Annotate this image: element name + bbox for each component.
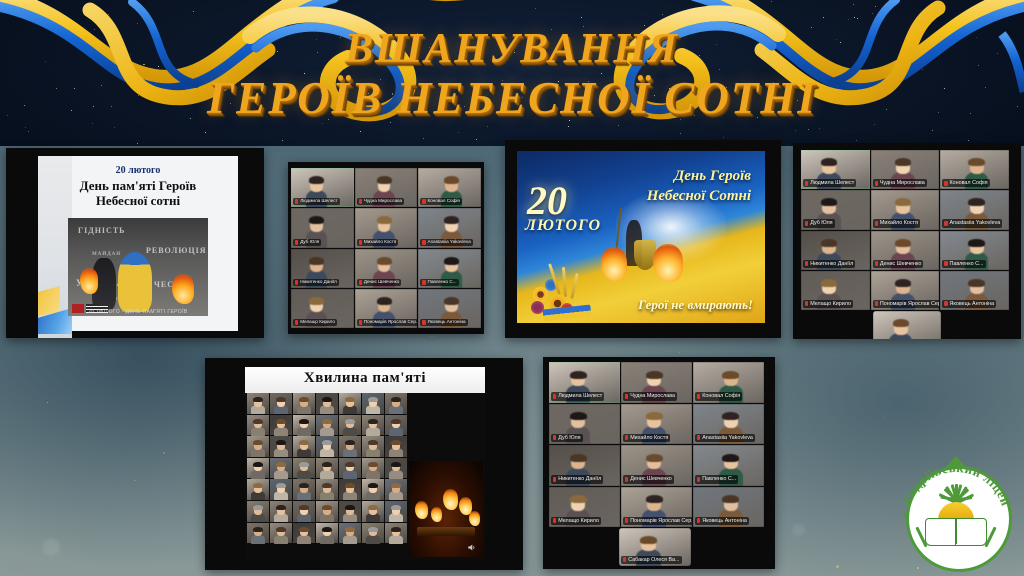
participant-name: Мелащо Кирило xyxy=(558,517,599,525)
participant-name: Людмила Шелест xyxy=(810,179,854,187)
memorial-portrait xyxy=(293,458,315,479)
wheat-stalk-2 xyxy=(562,267,567,297)
slide-3-month: ЛЮТОГО xyxy=(525,217,601,235)
participant-hair xyxy=(895,158,911,166)
portrait-body xyxy=(297,470,312,479)
participant-name-label: Коновал Софія xyxy=(942,179,989,187)
candle-flame-2 xyxy=(431,507,442,522)
participant-name: Пономарів Ярослав Сер... xyxy=(880,300,939,308)
participant-name-label: Михайло Костя xyxy=(873,219,920,227)
video-participant-cell[interactable]: Никитенко Даніїл xyxy=(549,445,620,486)
portrait-hair xyxy=(299,419,309,424)
portrait-hair xyxy=(299,505,309,510)
candle-tray xyxy=(417,527,475,536)
memorial-portrait xyxy=(339,393,361,414)
participant-name: Денис Шевченко xyxy=(880,260,922,268)
portrait-hair xyxy=(368,462,378,467)
photo-word-revolution: РЕВОЛЮЦІЯ xyxy=(146,246,206,255)
video-participant-cell[interactable]: Людмила Шелест xyxy=(549,362,620,403)
memorial-portrait xyxy=(270,458,292,479)
participant-name-label: Денис Шевченко xyxy=(357,279,402,286)
participant-name-label: Михайло Костя xyxy=(357,239,399,246)
microphone-muted-icon xyxy=(625,477,628,482)
participant-name: Пономарів Ярослав Сер... xyxy=(630,517,692,525)
participant-hair xyxy=(968,239,984,247)
portrait-body xyxy=(389,470,404,479)
participant-name: Михайло Костя xyxy=(364,239,396,246)
portrait-hair xyxy=(253,505,263,510)
portrait-hair xyxy=(368,483,378,488)
slide-3-heading: День Героїв Небесної Сотні xyxy=(647,167,751,206)
participant-name-label: Дуб Юля xyxy=(293,239,321,246)
memorial-portrait xyxy=(270,415,292,436)
video-participant-cell[interactable]: Павленко С... xyxy=(418,249,481,288)
wheat-stalk-3 xyxy=(570,273,578,299)
video-participant-cell[interactable]: Мелащо Кирило xyxy=(801,271,870,310)
participant-name-label: Пономарів Ярослав Сер... xyxy=(357,319,418,326)
participant-name: Коновал Софія xyxy=(702,392,740,400)
participant-name: Людмила Шелест xyxy=(300,198,338,205)
microphone-muted-icon xyxy=(625,394,628,399)
portrait-hair xyxy=(322,397,332,402)
video-cell-floating[interactable]: Сабакар Олеся Ва... xyxy=(619,528,691,566)
memorial-portrait xyxy=(316,458,338,479)
participant-name: Дуб Юля xyxy=(300,239,319,246)
participant-name-label: Яковець Антоніна xyxy=(942,300,996,308)
memorial-portrait xyxy=(385,393,407,414)
participant-hair xyxy=(821,239,837,247)
participant-hair xyxy=(895,239,911,247)
portrait-hair xyxy=(276,440,286,445)
portrait-hair xyxy=(345,462,355,467)
participant-hair xyxy=(646,495,663,503)
participant-hair xyxy=(570,454,587,462)
participant-name: Чудна Мирослава xyxy=(630,392,675,400)
slide-1-yellow-shape xyxy=(38,286,60,316)
participant-name-label: Денис Шевченко xyxy=(873,260,924,268)
participant-name-label: Anastasiia Yakovleva xyxy=(695,434,755,442)
memorial-portrait xyxy=(247,436,269,457)
memorial-portrait xyxy=(247,415,269,436)
video-grid-cells: Людмила ШелестЧудна МирославаКоновал Соф… xyxy=(291,168,481,328)
portrait-hair xyxy=(299,527,309,532)
microphone-muted-icon xyxy=(875,221,878,226)
poster-title: ВШАНУВАННЯ ГЕРОЇВ НЕБЕСНОЇ СОТНІ xyxy=(0,28,1024,121)
sparkle xyxy=(47,402,48,403)
portrait-hair xyxy=(391,505,401,510)
video-participant-cell[interactable]: Пономарів Ярослав Сер... xyxy=(871,271,940,310)
participant-hair xyxy=(377,216,392,224)
participant-hair xyxy=(309,216,324,224)
microphone-muted-icon xyxy=(875,181,878,186)
portrait-hair xyxy=(276,462,286,467)
flower-1 xyxy=(533,287,548,302)
memorial-portrait xyxy=(362,458,384,479)
participant-hair xyxy=(309,297,324,305)
participant-name: Коновал Софія xyxy=(950,179,988,187)
portrait-hair xyxy=(345,527,355,532)
video-grid-cells: Людмила ШелестЧудна МирославаКоновал Соф… xyxy=(801,150,1009,310)
memorial-portrait xyxy=(362,436,384,457)
memorial-portrait xyxy=(362,523,384,544)
participant-name: Михайло Костя xyxy=(880,219,918,227)
portrait-hair xyxy=(276,505,286,510)
participant-name-label: Яковець Антоніна xyxy=(695,517,749,525)
memorial-portrait xyxy=(362,393,384,414)
memorial-portrait xyxy=(247,523,269,544)
portrait-hair xyxy=(368,440,378,445)
participant-name: Anastasiia Yakovleva xyxy=(950,219,1001,227)
portrait-hair xyxy=(345,419,355,424)
participant-name: Павленко С... xyxy=(950,260,984,268)
memorial-portrait xyxy=(293,501,315,522)
participant-name: Anastasiia Yakovleva xyxy=(428,239,471,246)
participant-name: Пономарів Ярослав Сер... xyxy=(364,319,417,326)
participant-name-label: Людмила Шелест xyxy=(803,179,856,187)
microphone-muted-icon xyxy=(697,477,700,482)
title-line-2: ГЕРОЇВ НЕБЕСНОЇ СОТНІ xyxy=(0,76,1024,121)
memorial-portrait xyxy=(339,501,361,522)
video-grid-bottom-right[interactable]: Людмила ШелестЧудна МирославаКоновал Соф… xyxy=(543,357,775,569)
microphone-muted-icon xyxy=(805,261,808,266)
slide-3-heading-line-2: Небесної Сотні xyxy=(647,188,751,204)
participant-hair xyxy=(821,279,837,287)
video-participant-cell[interactable]: Коновал Софія xyxy=(418,168,481,207)
slide-3-heading-line-1: День Героїв xyxy=(674,168,751,184)
participant-name-label: Чудна Мирослава xyxy=(357,198,404,205)
portrait-hair xyxy=(368,527,378,532)
portrait-hair xyxy=(253,397,263,402)
memorial-portrait xyxy=(270,501,292,522)
portrait-hair xyxy=(299,397,309,402)
candle-flame-3 xyxy=(443,489,458,510)
video-grid-top-right[interactable]: Людмила ШелестЧудна МирославаКоновал Соф… xyxy=(793,143,1021,339)
video-participant-cell[interactable]: Павленко С... xyxy=(940,231,1009,270)
participant-name: Никитенко Даніїл xyxy=(300,279,337,286)
participant-hair xyxy=(570,371,587,379)
participant-name-label: Павленко С... xyxy=(420,279,458,286)
participant-hair xyxy=(309,257,324,265)
participant-name-label: Пономарів Ярослав Сер... xyxy=(623,517,692,525)
poster-header: ВШАНУВАННЯ ГЕРОЇВ НЕБЕСНОЇ СОТНІ xyxy=(0,0,1024,146)
participant-hair xyxy=(968,198,984,206)
participant-name: Яковець Антоніна xyxy=(702,517,747,525)
portrait-hair xyxy=(276,527,286,532)
participant-name-label: Дуб Юля xyxy=(803,219,835,227)
portrait-hair xyxy=(391,440,401,445)
school-logo: Андріївський ліцей xyxy=(894,454,1018,572)
memorial-portrait xyxy=(316,523,338,544)
microphone-muted-icon xyxy=(422,280,425,285)
video-participant-cell[interactable]: Людмила Шелест xyxy=(801,150,870,189)
slide-3-flame-right xyxy=(653,244,683,282)
participant-hair xyxy=(377,297,392,305)
memorial-portrait xyxy=(385,501,407,522)
video-participant-cell[interactable]: Дуб Юля xyxy=(549,404,620,445)
video-participant-cell[interactable]: Пономарів Ярослав Сер... xyxy=(355,289,418,328)
participant-name: Сабакар Олеся Ва... xyxy=(628,556,679,564)
portrait-hair xyxy=(276,483,286,488)
microphone-muted-icon xyxy=(805,301,808,306)
memorial-portrait xyxy=(247,393,269,414)
participant-name-label: Михайло Костя xyxy=(623,434,670,442)
microphone-muted-icon xyxy=(944,261,947,266)
memorial-portrait xyxy=(316,501,338,522)
participant-hair xyxy=(646,412,663,420)
participant-name-label: Мелащо Кирило xyxy=(803,300,853,308)
video-participant-cell[interactable]: Михайло Костя xyxy=(871,190,940,229)
slide-1-heading: День пам'яті Героїв Небесної сотні xyxy=(42,178,234,209)
portrait-hair xyxy=(253,527,263,532)
participant-hair xyxy=(640,536,657,544)
participant-name: Яковець Антоніна xyxy=(428,319,466,326)
memorial-portrait xyxy=(270,523,292,544)
memorial-portrait xyxy=(385,523,407,544)
participant-name: Чудна Мирослава xyxy=(880,179,925,187)
book-spine xyxy=(955,518,957,544)
participant-hair xyxy=(570,412,587,420)
memorial-portrait xyxy=(293,523,315,544)
participant-hair xyxy=(377,176,392,184)
candle-flame-5 xyxy=(469,511,480,526)
slide-3-content: День Героїв Небесної Сотні 20 ЛЮТОГО Ге xyxy=(517,151,765,323)
participant-name-label: Павленко С... xyxy=(695,475,738,483)
memorial-portrait xyxy=(316,479,338,500)
microphone-muted-icon xyxy=(295,320,298,325)
video-participant-cell[interactable]: Михайло Костя xyxy=(621,404,692,445)
participant-hair xyxy=(722,412,739,420)
video-participant-cell[interactable]: Мелащо Кирило xyxy=(291,289,354,328)
participant-hair xyxy=(444,257,459,265)
participant-name-label: Яковець Антоніна xyxy=(420,319,467,326)
candles-photo xyxy=(409,461,483,557)
portrait-hair xyxy=(345,505,355,510)
memorial-portrait xyxy=(362,479,384,500)
video-participant-cell[interactable]: Денис Шевченко xyxy=(355,249,418,288)
video-participant-cell[interactable]: Мелащо Кирило xyxy=(549,487,620,528)
participant-name-label: Дуб Юля xyxy=(551,434,583,442)
slide-1-photo-caption: 20 ЛЮТОГО - ДЕНЬ ПАМ'ЯТІ ГЕРОЇВ xyxy=(68,309,208,315)
participant-name-label: Никитенко Даніїл xyxy=(293,279,339,286)
portrait-hair xyxy=(345,397,355,402)
slide-photo-minute-of-silence[interactable]: Хвилина пам'яті xyxy=(205,358,523,570)
participant-hair xyxy=(895,279,911,287)
participant-name: Людмила Шелест xyxy=(558,392,602,400)
open-book-icon xyxy=(925,518,987,544)
video-participant-cell[interactable]: Коновал Софія xyxy=(693,362,764,403)
microphone-muted-icon xyxy=(359,320,362,325)
portrait-hair xyxy=(391,397,401,402)
slide-photo-heroes-day[interactable]: День Героїв Небесної Сотні 20 ЛЮТОГО Ге xyxy=(505,140,781,338)
video-participant-cell[interactable]: Пономарів Ярослав Сер... xyxy=(621,487,692,528)
slide-4-title: Хвилина пам'яті xyxy=(245,370,485,387)
slide-photo-memorial-day[interactable]: 20 лютого День пам'яті Героїв Небесної с… xyxy=(6,148,264,338)
memorial-portrait xyxy=(270,436,292,457)
portrait-hair xyxy=(299,483,309,488)
memorial-portrait-mosaic xyxy=(247,393,407,558)
memorial-portrait xyxy=(316,436,338,457)
memorial-portrait xyxy=(362,415,384,436)
participant-name: Павленко С... xyxy=(702,475,736,483)
microphone-muted-icon xyxy=(805,221,808,226)
memorial-portrait xyxy=(316,415,338,436)
video-participant-cell[interactable]: Павленко С... xyxy=(693,445,764,486)
memorial-portrait xyxy=(316,393,338,414)
slide-3-shield xyxy=(634,240,656,270)
portrait-hair xyxy=(299,462,309,467)
participant-name-label: Коновал Софія xyxy=(420,198,462,205)
participant-name: Яковець Антоніна xyxy=(950,300,995,308)
sparkle xyxy=(679,352,680,353)
portrait-hair xyxy=(253,483,263,488)
microphone-muted-icon xyxy=(944,301,947,306)
microphone-muted-icon xyxy=(295,280,298,285)
title-line-1: ВШАНУВАННЯ xyxy=(0,28,1024,70)
participant-name-label: Мелащо Кирило xyxy=(293,319,337,326)
participant-name-label: Чудна Мирослава xyxy=(623,392,677,400)
participant-name-label: Anastasiia Yakovleva xyxy=(942,219,1002,227)
memorial-portrait xyxy=(247,501,269,522)
memorial-portrait xyxy=(247,479,269,500)
video-participant-cell[interactable]: Михайло Костя xyxy=(355,208,418,247)
sparkle xyxy=(884,417,885,418)
participant-name-label: Anastasiia Yakovleva xyxy=(420,239,472,246)
memorial-portrait xyxy=(385,415,407,436)
video-participant-cell[interactable]: Денис Шевченко xyxy=(621,445,692,486)
participant-hair xyxy=(722,454,739,462)
slide-1-heading-line-1: День пам'яті Героїв xyxy=(80,178,197,193)
participant-hair xyxy=(821,198,837,206)
video-participant-cell[interactable]: Дуб Юля xyxy=(291,208,354,247)
microphone-muted-icon xyxy=(697,518,700,523)
slide-1-heading-line-2: Небесної сотні xyxy=(96,193,180,208)
video-participant-cell[interactable]: Яковець Антоніна xyxy=(693,487,764,528)
participant-name: Михайло Костя xyxy=(630,434,668,442)
memorial-portrait xyxy=(339,479,361,500)
portrait-hair xyxy=(322,440,332,445)
book-page-right xyxy=(955,518,987,546)
microphone-muted-icon xyxy=(553,477,556,482)
portrait-hair xyxy=(368,419,378,424)
video-participant-cell[interactable]: Дуб Юля xyxy=(801,190,870,229)
microphone-muted-icon xyxy=(359,240,362,245)
memorial-portrait xyxy=(339,415,361,436)
participant-hair xyxy=(646,371,663,379)
portrait-hair xyxy=(253,419,263,424)
participant-name: Дуб Юля xyxy=(810,219,832,227)
microphone-muted-icon xyxy=(553,435,556,440)
memorial-portrait xyxy=(293,415,315,436)
participant-name: Никитенко Даніїл xyxy=(810,260,853,268)
photo-word-maidan: МАЙДАН xyxy=(92,252,121,257)
portrait-hair xyxy=(276,419,286,424)
video-participant-cell[interactable]: Чудна Мирослава xyxy=(871,150,940,189)
video-participant-cell[interactable]: Людмила Шелест xyxy=(291,168,354,207)
participant-name-label: Коновал Софія xyxy=(695,392,742,400)
video-participant-cell[interactable]: Anastasiia Yakovleva xyxy=(418,208,481,247)
video-participant-cell[interactable]: Яковець Антоніна xyxy=(418,289,481,328)
participant-hair xyxy=(570,495,587,503)
microphone-muted-icon xyxy=(422,199,425,204)
portrait-hair xyxy=(322,483,332,488)
participant-name: Денис Шевченко xyxy=(630,475,672,483)
portrait-hair xyxy=(391,483,401,488)
participant-hair xyxy=(444,297,459,305)
portrait-hair xyxy=(368,505,378,510)
video-participant-cell[interactable]: Anastasiia Yakovleva xyxy=(693,404,764,445)
video-participant-cell[interactable]: Никитенко Даніїл xyxy=(291,249,354,288)
slide-1-photo: ГІДНІСТЬ МАЙДАН РЕВОЛЮЦІЯ УКРАЇНА ЧЕСТЬ … xyxy=(68,218,208,316)
participant-name-label: Людмила Шелест xyxy=(551,392,604,400)
slide-1-content: 20 лютого День пам'яті Героїв Небесної с… xyxy=(38,156,238,331)
participant-name: Anastasiia Yakovleva xyxy=(702,434,753,442)
video-cell-floating[interactable]: Сабакар Олеся Ва... xyxy=(873,311,941,339)
portrait-hair xyxy=(391,462,401,467)
microphone-muted-icon xyxy=(805,181,808,186)
video-participant-cell[interactable]: Коновал Софія xyxy=(940,150,1009,189)
video-participant-cell[interactable]: Денис Шевченко xyxy=(871,231,940,270)
portrait-body xyxy=(251,470,266,479)
video-participant-cell[interactable]: Никитенко Даніїл xyxy=(801,231,870,270)
memorial-portrait xyxy=(270,393,292,414)
microphone-muted-icon xyxy=(697,435,700,440)
microphone-muted-icon xyxy=(875,301,878,306)
slide-1-date: 20 лютого xyxy=(38,165,238,176)
video-participant-cell[interactable]: Яковець Антоніна xyxy=(940,271,1009,310)
memorial-portrait xyxy=(339,436,361,457)
microphone-muted-icon xyxy=(359,280,362,285)
portrait-hair xyxy=(253,462,263,467)
sparkle xyxy=(836,565,839,568)
video-participant-cell[interactable]: Чудна Мирослава xyxy=(355,168,418,207)
participant-hair xyxy=(309,176,324,184)
video-participant-cell[interactable]: Чудна Мирослава xyxy=(621,362,692,403)
microphone-muted-icon xyxy=(625,435,628,440)
slide-4-content: Хвилина пам'яті xyxy=(245,367,485,560)
photo-flame-right xyxy=(172,274,194,304)
video-participant-cell[interactable]: Anastasiia Yakovleva xyxy=(940,190,1009,229)
participant-hair xyxy=(377,257,392,265)
participant-name: Никитенко Даніїл xyxy=(558,475,601,483)
video-grid-cells: Людмила ШелестЧудна МирославаКоновал Соф… xyxy=(549,362,764,527)
microphone-muted-icon xyxy=(553,394,556,399)
book-page-left xyxy=(925,518,957,546)
microphone-muted-icon xyxy=(944,181,947,186)
photo-figure-helmet xyxy=(126,252,144,265)
memorial-portrait xyxy=(293,436,315,457)
participant-name: Павленко С... xyxy=(428,279,457,286)
participant-name: Коновал Софія xyxy=(428,198,460,205)
portrait-body xyxy=(320,470,335,479)
video-grid-top-middle[interactable]: Людмила ШелестЧудна МирославаКоновал Соф… xyxy=(288,162,484,334)
microphone-muted-icon xyxy=(422,320,425,325)
microphone-muted-icon xyxy=(295,199,298,204)
microphone-muted-icon xyxy=(875,261,878,266)
memorial-portrait xyxy=(385,479,407,500)
participant-hair xyxy=(722,495,739,503)
memorial-portrait xyxy=(385,436,407,457)
microphone-muted-icon xyxy=(553,518,556,523)
participant-name-label: Сабакар Олеся Ва... xyxy=(621,556,682,564)
participant-name-label: Никитенко Даніїл xyxy=(551,475,603,483)
participant-hair xyxy=(646,454,663,462)
participant-name: Мелащо Кирило xyxy=(810,300,851,308)
portrait-hair xyxy=(391,419,401,424)
memorial-portrait xyxy=(385,458,407,479)
photo-flame-left xyxy=(80,268,98,294)
participant-name: Денис Шевченко xyxy=(364,279,399,286)
microphone-muted-icon xyxy=(359,199,362,204)
